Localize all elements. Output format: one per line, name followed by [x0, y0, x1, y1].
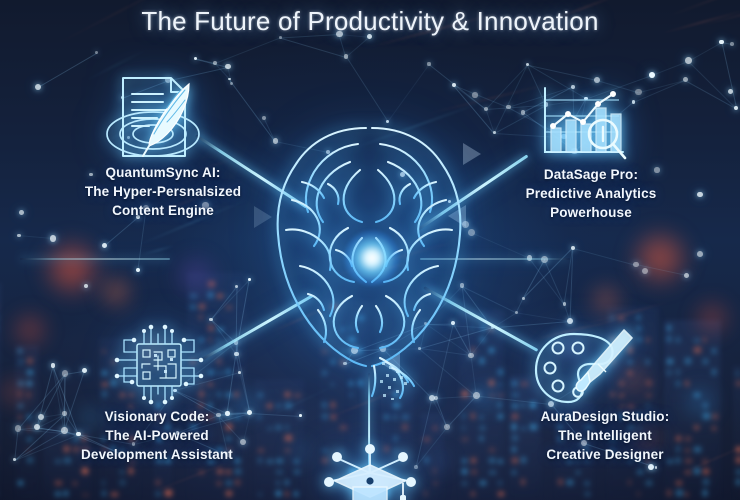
neural-node [34, 424, 40, 430]
neural-link [346, 37, 370, 58]
city-window [27, 370, 34, 375]
city-window [433, 426, 437, 430]
city-window [646, 360, 650, 364]
bokeh-light [586, 280, 626, 320]
neural-link [214, 37, 280, 64]
city-window [489, 348, 494, 353]
feature-title: Visionary Code: [42, 407, 272, 426]
city-building [15, 345, 39, 500]
city-window [637, 315, 640, 320]
city-window [676, 490, 683, 496]
city-window [55, 481, 62, 485]
city-window [294, 470, 300, 474]
neural-link [387, 64, 429, 122]
city-window [703, 359, 708, 364]
feature-label-auradesign: AuraDesign Studio: The Intelligent Creat… [490, 407, 720, 464]
city-window [27, 438, 32, 441]
bokeh-light [8, 308, 52, 352]
neural-node [697, 251, 703, 257]
city-window [276, 491, 281, 496]
neural-node [563, 302, 566, 305]
city-window [489, 327, 493, 331]
city-window [393, 403, 400, 408]
feature-title: DataSage Pro: [476, 165, 706, 184]
neural-node [248, 278, 251, 281]
neural-link [354, 349, 383, 352]
neural-link [236, 355, 240, 374]
neural-link [462, 286, 472, 356]
city-window [82, 494, 89, 497]
neural-link [486, 109, 495, 133]
neural-node [213, 61, 217, 65]
light-streak [270, 306, 329, 333]
city-window [498, 383, 503, 386]
neural-link [339, 34, 347, 57]
neural-link [721, 42, 737, 108]
city-window [120, 480, 125, 485]
city-window [340, 425, 347, 430]
city-window [646, 481, 652, 485]
neural-link [436, 396, 477, 399]
city-window [190, 294, 197, 298]
microchip-circuit-icon[interactable] [104, 322, 210, 406]
city-window [349, 350, 353, 353]
city-window [208, 292, 213, 298]
neural-node [649, 72, 655, 78]
neural-link [346, 57, 388, 122]
connector-beam-bottom-right [423, 286, 538, 351]
city-window [480, 337, 486, 342]
page-title: The Future of Productivity & Innovation [0, 6, 740, 37]
city-window [619, 317, 624, 320]
neural-node [648, 464, 654, 470]
city-window [322, 371, 327, 375]
feature-line3: Powerhouse [476, 203, 706, 222]
city-window [294, 394, 301, 397]
neural-node [273, 138, 279, 144]
neural-node [427, 62, 430, 65]
neural-link [383, 348, 420, 350]
city-window [512, 471, 515, 474]
city-window [646, 338, 650, 342]
neural-link [685, 80, 737, 109]
city-window [736, 479, 740, 485]
neural-link [37, 53, 96, 88]
city-window [694, 339, 700, 342]
city-window [331, 415, 336, 419]
neural-link [462, 286, 493, 328]
city-window [384, 415, 388, 419]
neural-link [65, 371, 85, 375]
neural-link [471, 327, 493, 356]
neural-node [515, 311, 518, 314]
neural-node [51, 363, 56, 368]
neural-link [196, 58, 215, 64]
city-window [285, 492, 289, 496]
city-window [18, 481, 23, 485]
bokeh-light [626, 224, 694, 292]
document-quill-icon[interactable] [97, 70, 213, 162]
neural-node [15, 425, 22, 432]
neural-link [633, 80, 685, 103]
city-window [471, 325, 474, 331]
neural-node [136, 268, 140, 272]
city-window [217, 349, 222, 353]
city-window [736, 470, 740, 474]
city-window [208, 281, 215, 287]
neural-link [429, 64, 487, 110]
city-window [712, 349, 716, 353]
city-window [676, 381, 680, 386]
neural-node [567, 318, 573, 324]
city-window [480, 436, 483, 441]
city-window [285, 392, 290, 397]
feature-label-quantumsync: QuantumSync AI: The Hyper-Persnalsized C… [48, 163, 278, 220]
city-window [462, 426, 465, 430]
neural-link [229, 79, 276, 142]
neural-node [234, 340, 239, 345]
neural-node [719, 40, 724, 45]
city-window [276, 459, 283, 463]
neural-node [418, 347, 421, 350]
neural-link [454, 85, 495, 133]
city-window [358, 380, 363, 386]
city-window [340, 350, 347, 353]
neural-node [685, 57, 692, 64]
city-window [102, 481, 105, 485]
city-window [217, 482, 221, 485]
neural-link [196, 58, 229, 67]
feature-title: AuraDesign Studio: [490, 407, 720, 426]
city-window [276, 470, 283, 474]
neural-link [211, 286, 238, 320]
city-window [637, 326, 641, 331]
neural-node [633, 262, 639, 268]
floating-triangle-icon [448, 205, 466, 227]
neural-node [380, 346, 386, 352]
brain-core-glow [344, 230, 400, 286]
neural-node [527, 255, 532, 260]
neural-link [14, 429, 18, 460]
neural-node [683, 77, 688, 82]
city-window [703, 479, 709, 485]
city-window [393, 392, 398, 397]
neural-node [460, 283, 464, 287]
neural-node [17, 234, 20, 237]
bokeh-light [96, 272, 136, 312]
city-window [685, 471, 691, 474]
neural-node [448, 200, 451, 203]
city-window [322, 350, 327, 353]
neural-link [570, 248, 574, 321]
light-streak [374, 263, 406, 273]
neural-link [523, 260, 546, 299]
neural-node [734, 106, 738, 110]
neural-link [471, 232, 530, 259]
city-building [0, 283, 1, 500]
neural-link [275, 141, 328, 153]
city-window [610, 316, 614, 320]
neural-node [730, 42, 734, 46]
neural-node [635, 89, 642, 96]
city-window [512, 381, 517, 387]
city-window [340, 328, 345, 331]
city-window [226, 369, 230, 375]
light-streak [324, 239, 462, 279]
city-window [585, 482, 589, 485]
city-window [676, 338, 680, 342]
city-window [199, 304, 205, 309]
neural-node [429, 395, 435, 401]
neural-link [211, 319, 237, 354]
city-window [156, 480, 160, 485]
neural-node [19, 210, 24, 215]
city-window [18, 416, 22, 419]
neural-link [721, 42, 731, 45]
city-window [285, 425, 289, 430]
city-window [226, 481, 232, 485]
neural-node [462, 221, 469, 228]
city-window [276, 481, 280, 485]
city-window [685, 493, 688, 496]
neural-node [84, 284, 88, 288]
city-window [285, 435, 292, 441]
city-window [322, 315, 326, 320]
city-window [217, 339, 220, 342]
light-streak [583, 301, 670, 325]
neural-node [228, 78, 231, 81]
neural-link [211, 319, 237, 343]
city-window [489, 471, 496, 474]
neural-node [262, 116, 266, 120]
city-window [235, 392, 238, 397]
city-window [285, 449, 290, 452]
neural-link [236, 280, 250, 355]
feature-line3: Content Engine [48, 201, 278, 220]
city-window [685, 358, 691, 364]
neural-node [50, 235, 56, 241]
city-window [489, 394, 496, 397]
city-window [73, 482, 77, 485]
city-window [258, 493, 262, 496]
city-window [331, 360, 335, 364]
city-window [322, 414, 328, 419]
neural-link [636, 265, 687, 277]
neural-link [214, 63, 230, 80]
neural-link [528, 64, 598, 80]
neural-node [343, 362, 347, 366]
city-window [402, 424, 408, 430]
feature-title: QuantumSync AI: [48, 163, 278, 182]
neural-link [229, 79, 232, 84]
city-window [558, 479, 563, 485]
neural-link [517, 312, 571, 322]
city-window [694, 393, 700, 397]
neural-link [486, 65, 528, 110]
city-window [217, 328, 224, 331]
city-window [736, 372, 740, 375]
city-window [393, 415, 397, 420]
city-window [712, 369, 716, 375]
neural-node [571, 246, 575, 250]
neural-node [62, 370, 69, 377]
city-window [27, 358, 33, 364]
neural-node [451, 321, 455, 325]
city-window [667, 325, 671, 331]
neural-node [472, 92, 477, 97]
city-window [217, 294, 223, 298]
city-window [331, 402, 335, 408]
city-window [27, 427, 32, 430]
city-window [585, 492, 590, 496]
floating-triangle-icon [382, 353, 400, 375]
city-window [471, 347, 476, 353]
city-window [18, 349, 22, 353]
neural-node [491, 326, 494, 329]
neural-link [453, 323, 472, 356]
neural-node [684, 273, 689, 278]
city-window [358, 316, 364, 320]
neural-link [447, 396, 477, 428]
neural-node [95, 51, 98, 54]
city-window [462, 438, 468, 441]
neural-link [688, 42, 722, 62]
city-window [512, 393, 519, 397]
city-window [331, 305, 338, 309]
neural-link [544, 260, 565, 305]
city-window [489, 380, 495, 386]
neural-link [383, 349, 432, 399]
neural-node [526, 63, 529, 66]
neural-link [235, 343, 236, 355]
city-window [226, 470, 231, 474]
neural-link [420, 327, 493, 349]
city-window [199, 471, 203, 474]
paint-palette-brush-icon[interactable] [528, 326, 636, 410]
city-window [736, 447, 740, 452]
city-window [349, 337, 355, 342]
neural-link [354, 324, 426, 352]
neural-node [728, 89, 733, 94]
feature-label-datasage: DataSage Pro: Predictive Analytics Power… [476, 165, 706, 222]
light-streak [347, 101, 486, 152]
city-window [667, 359, 673, 365]
brain-icon [262, 110, 478, 400]
light-streak [262, 384, 338, 420]
neural-link [529, 258, 564, 305]
city-window [676, 481, 682, 485]
city-window [703, 469, 708, 474]
neural-link [523, 248, 573, 299]
city-window [82, 468, 88, 474]
feature-label-visionarycode: Visionary Code: The AI-Powered Developme… [42, 407, 272, 464]
neural-node [238, 371, 241, 374]
neural-node [386, 120, 389, 123]
graduation-cap-network-icon [305, 443, 435, 500]
city-window [226, 295, 229, 298]
city-window [667, 370, 671, 375]
neural-link [18, 427, 37, 429]
city-window [480, 416, 483, 419]
neural-link [638, 80, 685, 93]
city-window [190, 305, 196, 309]
city-window [285, 480, 289, 486]
neural-link [227, 355, 237, 414]
city-window [521, 479, 524, 485]
neural-node [194, 57, 197, 60]
neural-link [425, 324, 471, 357]
city-window [226, 393, 232, 397]
city-window [646, 380, 652, 386]
city-window [276, 425, 281, 430]
city-window [480, 325, 486, 331]
city-window [480, 426, 486, 430]
neural-link [19, 235, 53, 239]
city-window [111, 493, 118, 496]
city-window [637, 492, 640, 496]
city-window [276, 404, 281, 408]
connector-beam-left-horizontal [20, 258, 170, 260]
neural-node [522, 297, 525, 300]
city-window [567, 480, 573, 485]
city-window [258, 393, 263, 397]
neural-node [484, 107, 488, 111]
city-window [349, 381, 353, 386]
city-building [459, 310, 504, 500]
city-window [471, 413, 475, 419]
city-window [226, 491, 232, 496]
neural-link [516, 299, 523, 313]
neural-link [688, 61, 737, 109]
neural-link [104, 217, 138, 246]
neural-node [326, 150, 330, 154]
city-window [462, 469, 467, 474]
bokeh-light [38, 234, 106, 302]
city-window [349, 326, 353, 331]
city-window [165, 490, 172, 496]
city-window [736, 457, 740, 463]
city-window [393, 436, 398, 441]
neural-node [452, 83, 457, 88]
neural-link [492, 312, 516, 328]
city-window [498, 481, 502, 485]
infographic-canvas: The Future of Productivity & Innovation [0, 0, 740, 500]
city-window [402, 415, 409, 419]
neural-link [564, 304, 571, 321]
feature-line2: The Hyper-Persnalsized [48, 182, 278, 201]
city-window [471, 492, 475, 496]
city-window [55, 492, 60, 496]
connector-beam-bottom-left [201, 294, 313, 360]
city-window [27, 415, 32, 419]
bar-chart-magnifier-icon[interactable] [523, 82, 635, 168]
city-window [102, 491, 106, 496]
neural-link [420, 348, 471, 356]
city-window [340, 361, 346, 364]
city-window [322, 402, 327, 408]
city-window [18, 391, 22, 397]
neural-node [35, 84, 41, 90]
city-window [628, 480, 632, 485]
city-window [703, 338, 706, 342]
neural-link [280, 37, 346, 57]
feature-line2: Predictive Analytics [476, 184, 706, 203]
neural-node [225, 64, 231, 70]
city-window [462, 459, 467, 463]
city-window [18, 381, 24, 386]
city-window [199, 314, 203, 320]
city-window [667, 490, 671, 496]
